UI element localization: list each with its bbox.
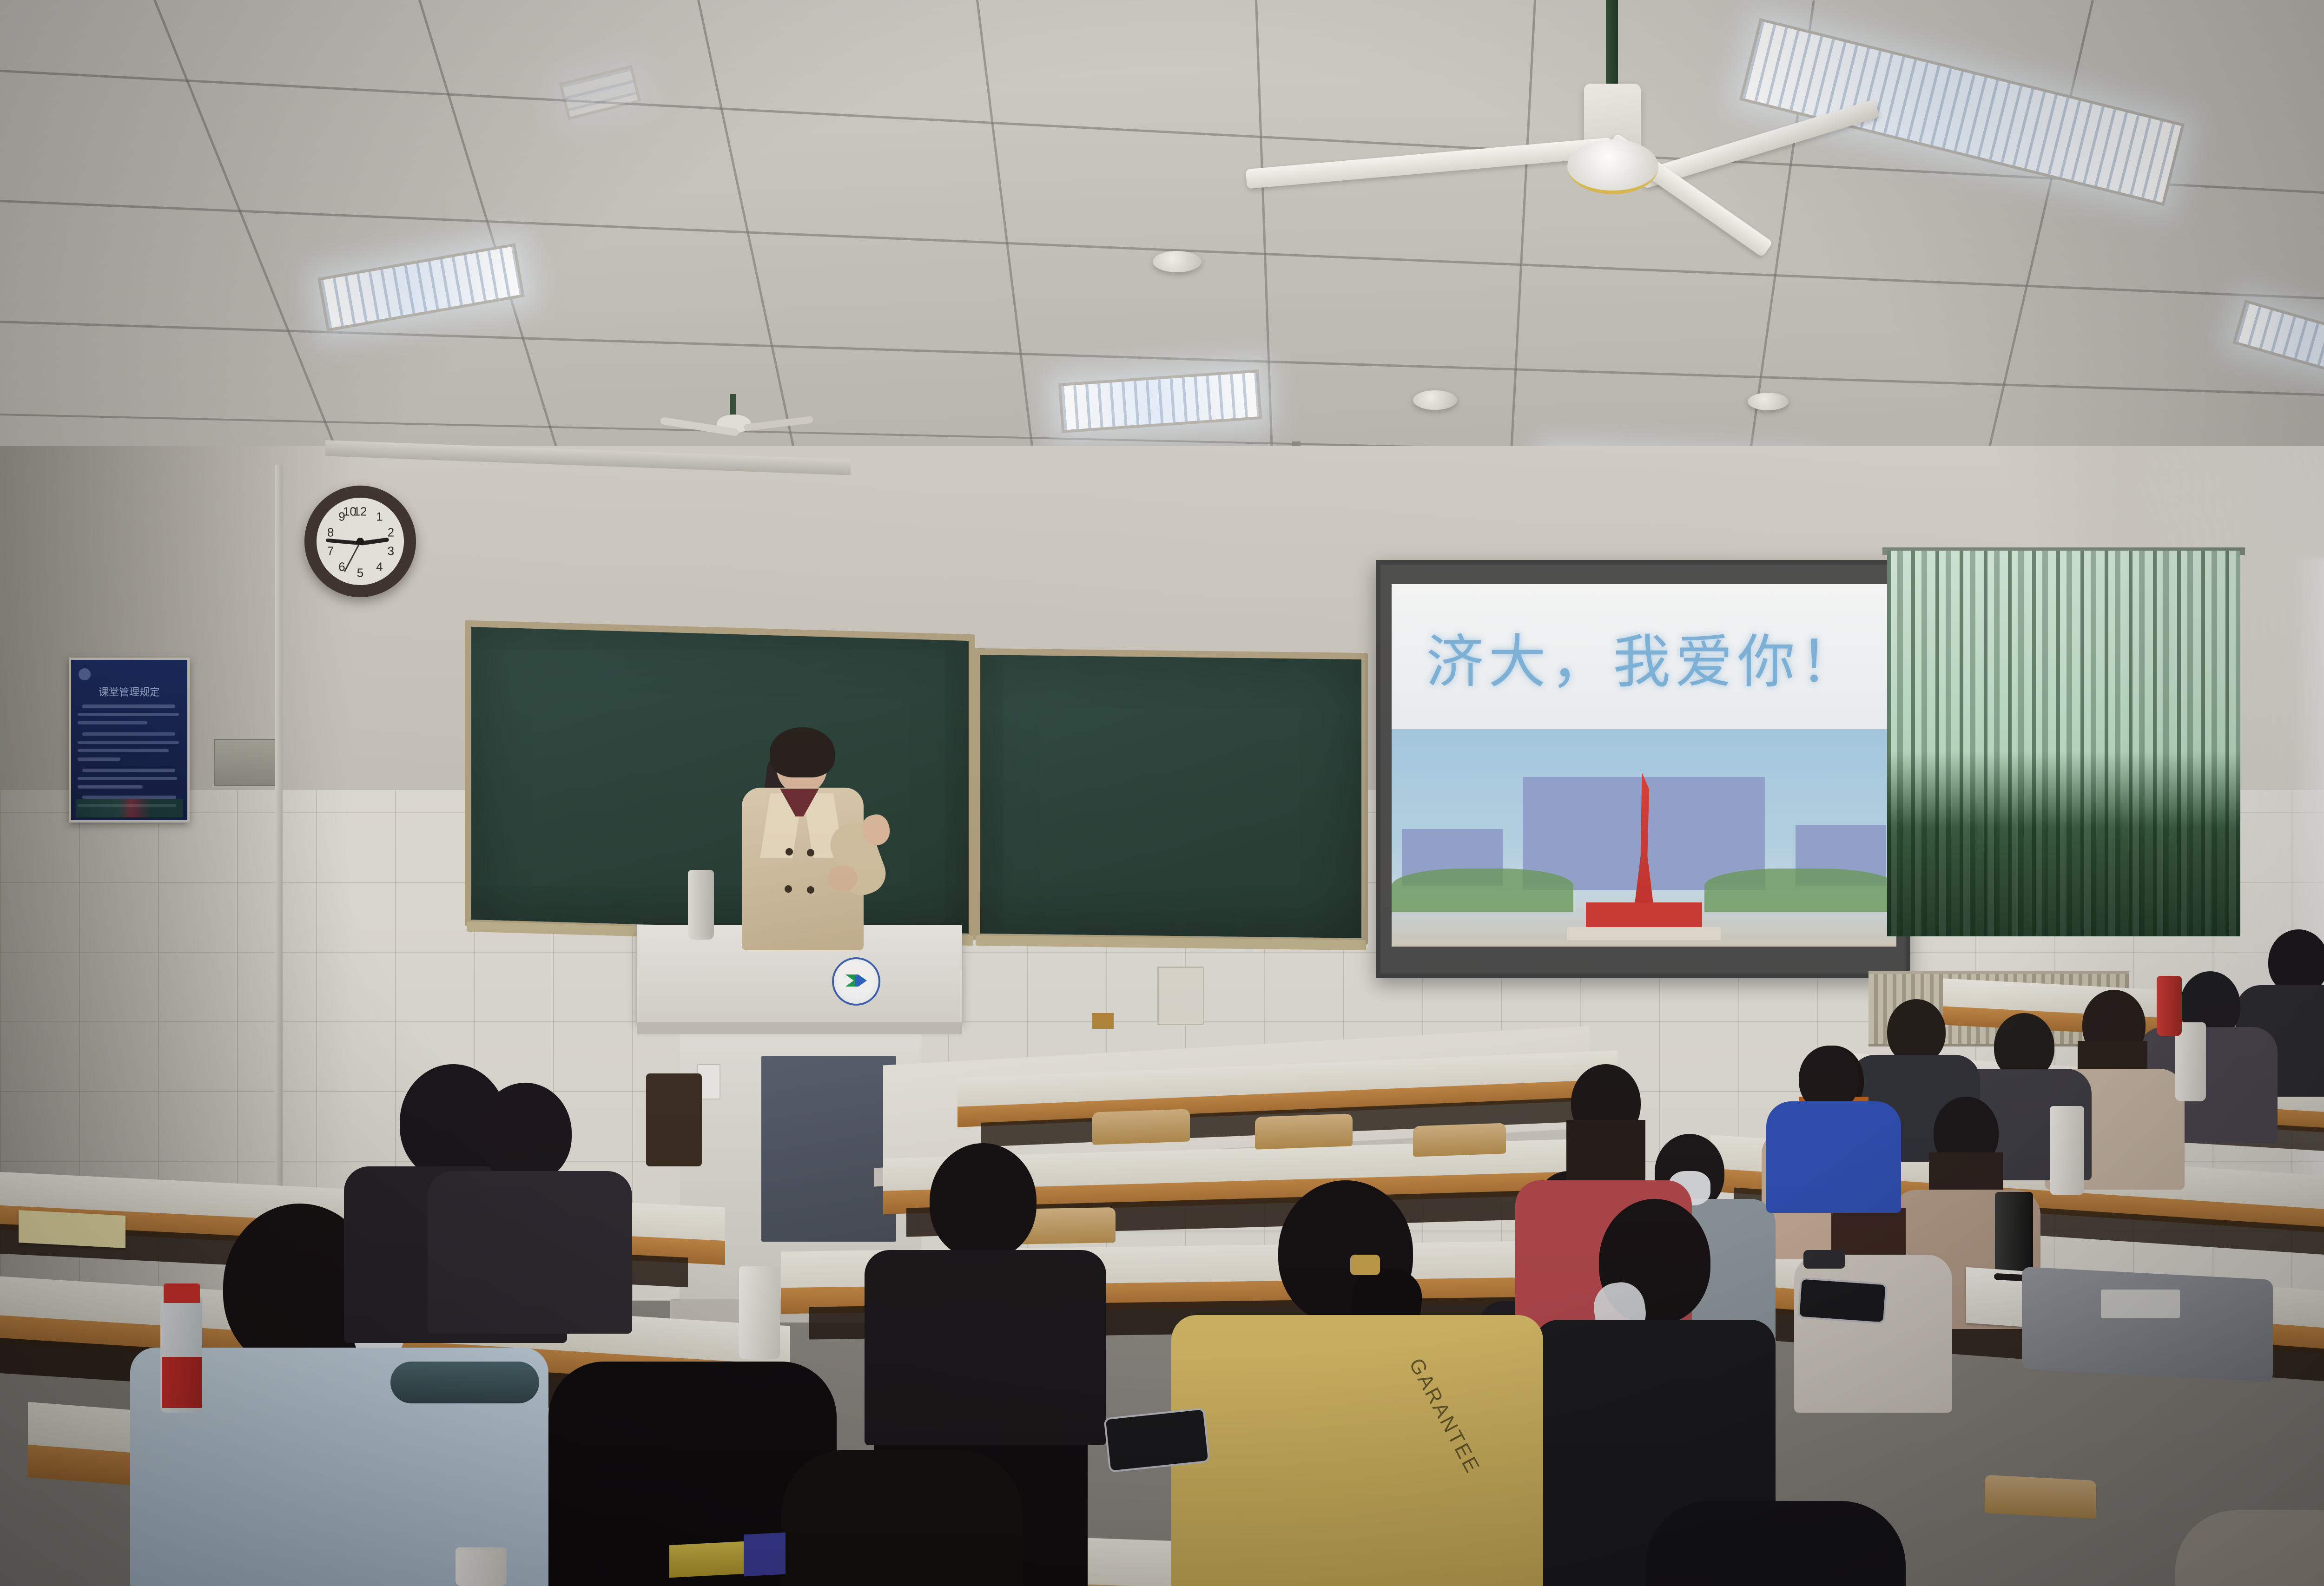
ceiling-fan-rod bbox=[1606, 0, 1618, 91]
student-body-yellow-puffer bbox=[1171, 1315, 1543, 1586]
instructor bbox=[725, 732, 883, 950]
student-head bbox=[2268, 929, 2324, 994]
ceiling-fan-secondary bbox=[665, 409, 804, 443]
water-bottle-label bbox=[162, 1357, 202, 1408]
thermos-flask[interactable] bbox=[2050, 1106, 2084, 1195]
chair-back[interactable] bbox=[1985, 1475, 2096, 1519]
chair-back[interactable] bbox=[1255, 1113, 1353, 1149]
clock-number: 1 bbox=[376, 510, 383, 524]
chalkboard-left bbox=[465, 620, 975, 941]
water-bottle-cap bbox=[164, 1283, 200, 1303]
paper-sheet bbox=[19, 1210, 125, 1248]
poster-footer-image bbox=[76, 799, 183, 817]
student-head bbox=[781, 1450, 1023, 1586]
slide-content: 济大，我爱你！ bbox=[1392, 584, 1896, 947]
student-body-blue bbox=[1766, 1101, 1901, 1213]
student-head bbox=[479, 1083, 572, 1183]
smoke-detector-icon bbox=[1413, 390, 1457, 410]
wall-switch bbox=[1092, 1013, 1114, 1029]
chair[interactable] bbox=[646, 1073, 702, 1166]
chair-back[interactable] bbox=[1092, 1109, 1190, 1145]
slide-trees bbox=[1392, 869, 1573, 912]
ceiling-fan-blade bbox=[744, 416, 814, 431]
bag-label bbox=[2101, 1290, 2180, 1318]
thermos-flask[interactable] bbox=[739, 1266, 780, 1359]
chalkboard-right bbox=[974, 648, 1368, 945]
ceiling-fan-rod bbox=[730, 394, 736, 417]
podium-control-screen[interactable] bbox=[761, 1056, 896, 1242]
book-blue[interactable] bbox=[744, 1533, 786, 1577]
slide-title-band: 济大，我爱你！ bbox=[1392, 584, 1896, 729]
thermos-flask bbox=[688, 870, 714, 940]
chair-back[interactable] bbox=[1413, 1123, 1506, 1157]
student-head bbox=[1645, 1501, 1906, 1586]
clock-number: 6 bbox=[338, 559, 345, 574]
smoke-detector-icon bbox=[1748, 393, 1789, 410]
clock-center-pin bbox=[357, 538, 364, 545]
wall-outlet-plate bbox=[1157, 967, 1204, 1025]
university-emblem-icon bbox=[832, 957, 880, 1006]
wall-pipe bbox=[275, 465, 283, 1208]
wall-clock: 12 1 2 3 4 5 6 7 8 9 10 bbox=[304, 486, 416, 597]
classroom-photo: 12 1 2 3 4 5 6 7 8 9 10 课堂管理规定 bbox=[0, 0, 2324, 1586]
slide-trees bbox=[1704, 869, 1896, 912]
projection-screen: 济大，我爱你！ bbox=[1376, 560, 1910, 978]
classroom-notice-board: 课堂管理规定 bbox=[69, 658, 190, 823]
clock-number: 8 bbox=[327, 526, 334, 540]
backpack[interactable] bbox=[2022, 1267, 2273, 1382]
hair-clip-icon bbox=[1350, 1255, 1380, 1275]
pencil-case[interactable] bbox=[390, 1362, 539, 1403]
poster-title: 课堂管理规定 bbox=[71, 684, 187, 699]
slide-monument-plinth bbox=[1567, 927, 1721, 940]
poster-emblem-icon bbox=[79, 668, 91, 680]
student-body bbox=[2175, 1510, 2324, 1586]
keys-icon bbox=[1803, 1250, 1845, 1269]
window-curtain[interactable] bbox=[1887, 551, 2240, 936]
slide-monument-base bbox=[1586, 902, 1702, 929]
clock-number: 7 bbox=[327, 544, 334, 558]
thermos-flask-red[interactable] bbox=[2157, 976, 2182, 1036]
thermos-flask[interactable] bbox=[456, 1547, 507, 1586]
student-body bbox=[865, 1250, 1106, 1445]
clock-number: 2 bbox=[388, 526, 394, 540]
clock-number: 5 bbox=[357, 566, 363, 580]
smartphone[interactable] bbox=[1797, 1277, 1888, 1324]
slide-photo bbox=[1392, 729, 1896, 947]
clock-hour-hand bbox=[360, 537, 389, 546]
instructor-hair bbox=[770, 727, 835, 777]
electrical-box bbox=[214, 739, 277, 786]
student-head bbox=[930, 1143, 1037, 1259]
student-body bbox=[428, 1171, 632, 1334]
clock-face: 12 1 2 3 4 5 6 7 8 9 10 bbox=[317, 498, 404, 585]
ceiling-fan-hub bbox=[1567, 139, 1658, 194]
instructor-hand bbox=[828, 866, 857, 891]
slide-title-text: 济大，我爱你！ bbox=[1426, 615, 1862, 698]
podium-top-edge bbox=[637, 1022, 962, 1034]
clock-number: 3 bbox=[388, 544, 394, 558]
smoke-detector-icon bbox=[1153, 251, 1202, 272]
clock-number: 4 bbox=[376, 559, 383, 574]
smartphone[interactable] bbox=[1103, 1408, 1210, 1473]
clock-number: 10 bbox=[343, 505, 357, 519]
student-head bbox=[1887, 999, 1946, 1064]
